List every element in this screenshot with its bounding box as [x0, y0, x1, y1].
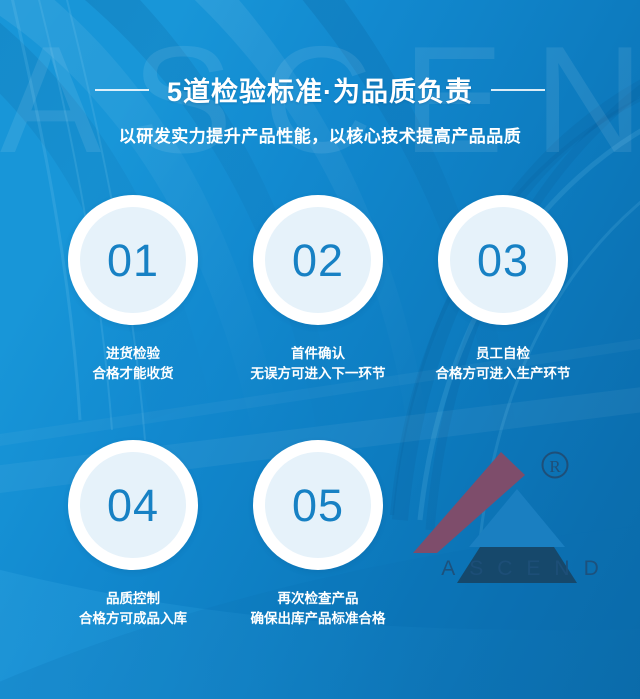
step-circle-02: 02: [253, 195, 383, 325]
step-caption-03: 员工自检 合格方可进入生产环节: [411, 344, 595, 384]
step-number-04: 04: [107, 483, 159, 528]
step-number-05: 05: [292, 483, 344, 528]
step-item-03: 03 员工自检 合格方可进入生产环节: [411, 195, 595, 384]
step-circle-04: 04: [68, 440, 198, 570]
step-desc-02: 无误方可进入下一环节: [226, 364, 410, 384]
step-item-02: 02 首件确认 无误方可进入下一环节: [226, 195, 410, 384]
promo-banner: ASCEND 5道检验标准·为品质负责 以研发实力提升产品性能，以核心技术提高产…: [0, 0, 640, 699]
step-number-02: 02: [292, 238, 344, 283]
step-title-03: 员工自检: [411, 344, 595, 364]
registered-mark-icon: R: [543, 453, 568, 478]
step-desc-01: 合格才能收货: [41, 364, 225, 384]
step-desc-03: 合格方可进入生产环节: [411, 364, 595, 384]
step-title-05: 再次检查产品: [226, 589, 410, 609]
step-circle-inner-03: 03: [450, 207, 556, 313]
step-number-03: 03: [477, 238, 529, 283]
step-circle-inner-04: 04: [80, 452, 186, 558]
steps-grid: 01 进货检验 合格才能收货 02 首件确认 无误方可进入下一环节: [0, 0, 640, 699]
step-number-01: 01: [107, 238, 159, 283]
step-desc-05: 确保出库产品标准合格: [226, 609, 410, 629]
svg-text:R: R: [549, 457, 561, 476]
step-item-05: 05 再次检查产品 确保出库产品标准合格: [226, 440, 410, 629]
step-title-01: 进货检验: [41, 344, 225, 364]
step-item-04: 04 品质控制 合格方可成品入库: [41, 440, 225, 629]
step-caption-02: 首件确认 无误方可进入下一环节: [226, 344, 410, 384]
step-item-01: 01 进货检验 合格才能收货: [41, 195, 225, 384]
logo-wordmark: ASCEND: [413, 557, 627, 581]
step-title-02: 首件确认: [226, 344, 410, 364]
step-caption-01: 进货检验 合格才能收货: [41, 344, 225, 384]
step-circle-inner-02: 02: [265, 207, 371, 313]
step-caption-05: 再次检查产品 确保出库产品标准合格: [226, 589, 410, 629]
step-circle-inner-01: 01: [80, 207, 186, 313]
ascend-logo: R ASCEND: [413, 443, 627, 593]
step-circle-05: 05: [253, 440, 383, 570]
step-circle-03: 03: [438, 195, 568, 325]
step-caption-04: 品质控制 合格方可成品入库: [41, 589, 225, 629]
step-circle-01: 01: [68, 195, 198, 325]
step-title-04: 品质控制: [41, 589, 225, 609]
step-circle-inner-05: 05: [265, 452, 371, 558]
step-desc-04: 合格方可成品入库: [41, 609, 225, 629]
